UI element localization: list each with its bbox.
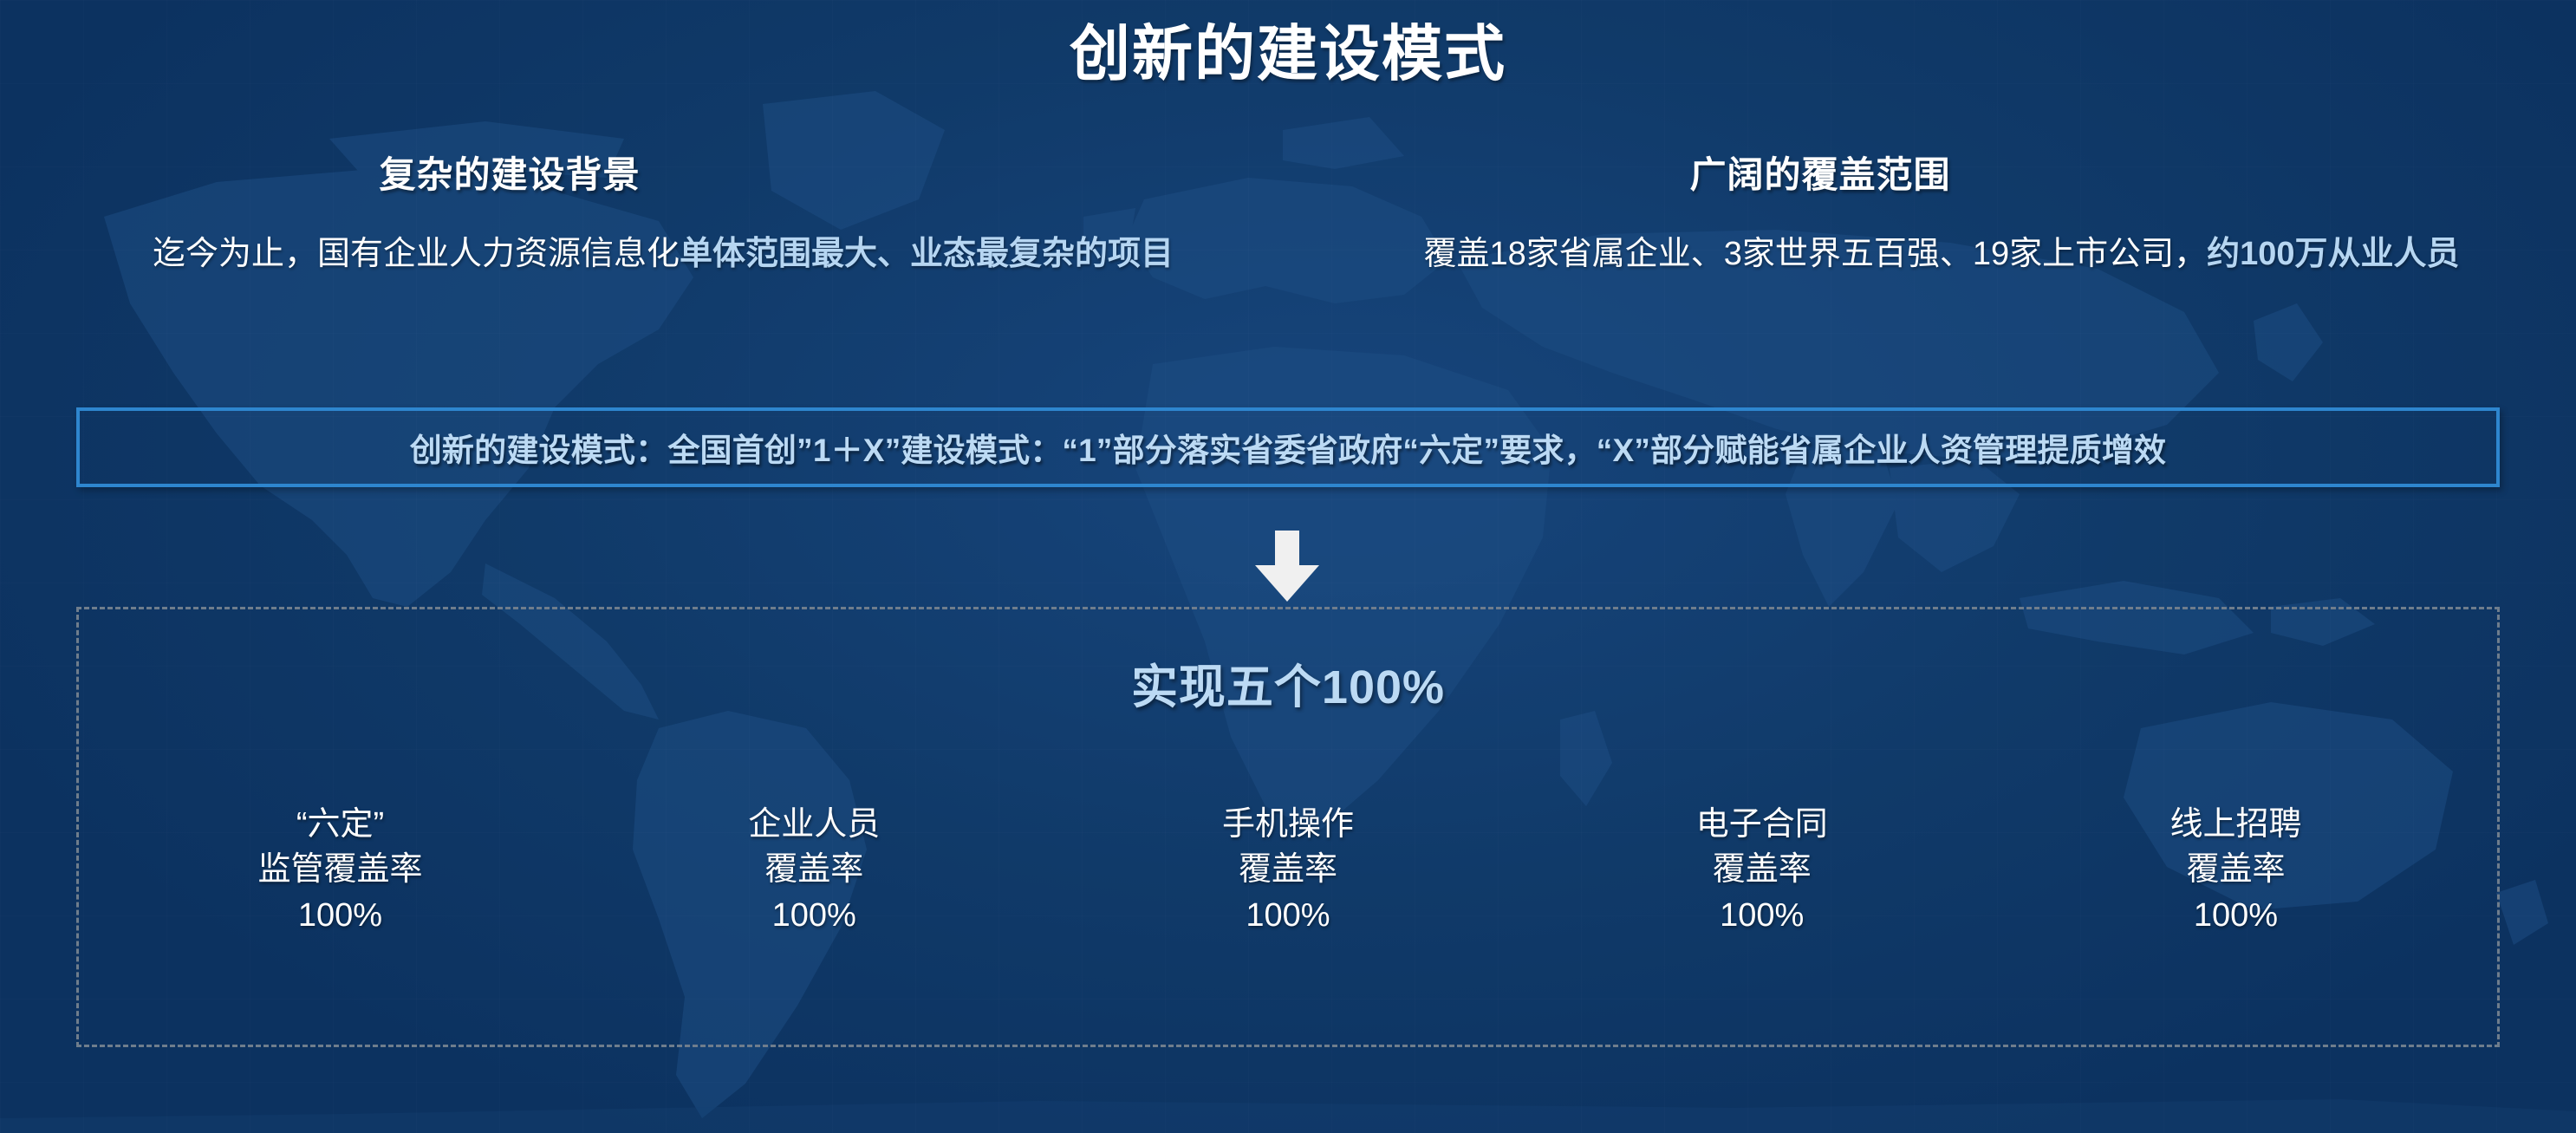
metric-3-line2: 覆盖率: [1052, 847, 1525, 892]
slide-canvas: 创新的建设模式 复杂的建设背景 迄今为止，国有企业人力资源信息化单体范围最大、业…: [0, 0, 2576, 1133]
metric-item-5: 线上招聘 覆盖率 100%: [2000, 802, 2472, 938]
highlight-callout-text: 创新的建设模式：全国首创”1＋X”建设模式：“1”部分落实省委省政府“六定”要求…: [410, 424, 2167, 471]
metric-5-line2: 覆盖率: [2000, 847, 2472, 892]
metric-4-line2: 覆盖率: [1525, 847, 1998, 892]
metric-1-value: 100%: [104, 893, 576, 938]
metric-item-2: 企业人员 覆盖率 100%: [578, 802, 1051, 938]
metric-5-value: 100%: [2000, 893, 2472, 938]
metric-2-line2: 覆盖率: [578, 847, 1051, 892]
coverage-column-heading: 广阔的覆盖范围: [1517, 146, 2124, 199]
coverage-body-plain: 覆盖18家省属企业、3家世界五百强、19家上市公司，: [1423, 236, 2207, 272]
metric-1-line2: 监管覆盖率: [104, 847, 576, 892]
down-arrow-icon: [1253, 531, 1321, 602]
metric-item-1: “六定” 监管覆盖率 100%: [104, 802, 576, 938]
metric-5-line1: 线上招聘: [2000, 802, 2472, 847]
background-column-heading: 复杂的建设背景: [206, 146, 813, 199]
background-body-plain: 迄今为止，国有企业人力资源信息化: [153, 236, 680, 272]
metric-3-value: 100%: [1052, 893, 1525, 938]
background-body-accent: 单体范围最大、业态最复杂的项目: [680, 236, 1174, 272]
page-title: 创新的建设模式: [0, 5, 2576, 93]
metrics-row: “六定” 监管覆盖率 100% 企业人员 覆盖率 100% 手机操作 覆盖率 1…: [104, 802, 2472, 938]
coverage-body-accent: 约100万从业人员: [2207, 236, 2459, 272]
metric-4-line1: 电子合同: [1525, 802, 1998, 847]
results-title: 实现五个100%: [0, 648, 2576, 717]
metric-2-value: 100%: [578, 893, 1051, 938]
background-column-body: 迄今为止，国有企业人力资源信息化单体范围最大、业态最复杂的项目: [61, 232, 1265, 276]
metric-4-value: 100%: [1525, 893, 1998, 938]
coverage-column-body: 覆盖18家省属企业、3家世界五百强、19家上市公司，约100万从业人员: [1339, 232, 2544, 276]
highlight-callout-box: 创新的建设模式：全国首创”1＋X”建设模式：“1”部分落实省委省政府“六定”要求…: [76, 407, 2500, 487]
metric-3-line1: 手机操作: [1052, 802, 1525, 847]
metric-item-3: 手机操作 覆盖率 100%: [1052, 802, 1525, 938]
metric-item-4: 电子合同 覆盖率 100%: [1525, 802, 1998, 938]
metric-2-line1: 企业人员: [578, 802, 1051, 847]
metric-1-line1: “六定”: [104, 802, 576, 847]
